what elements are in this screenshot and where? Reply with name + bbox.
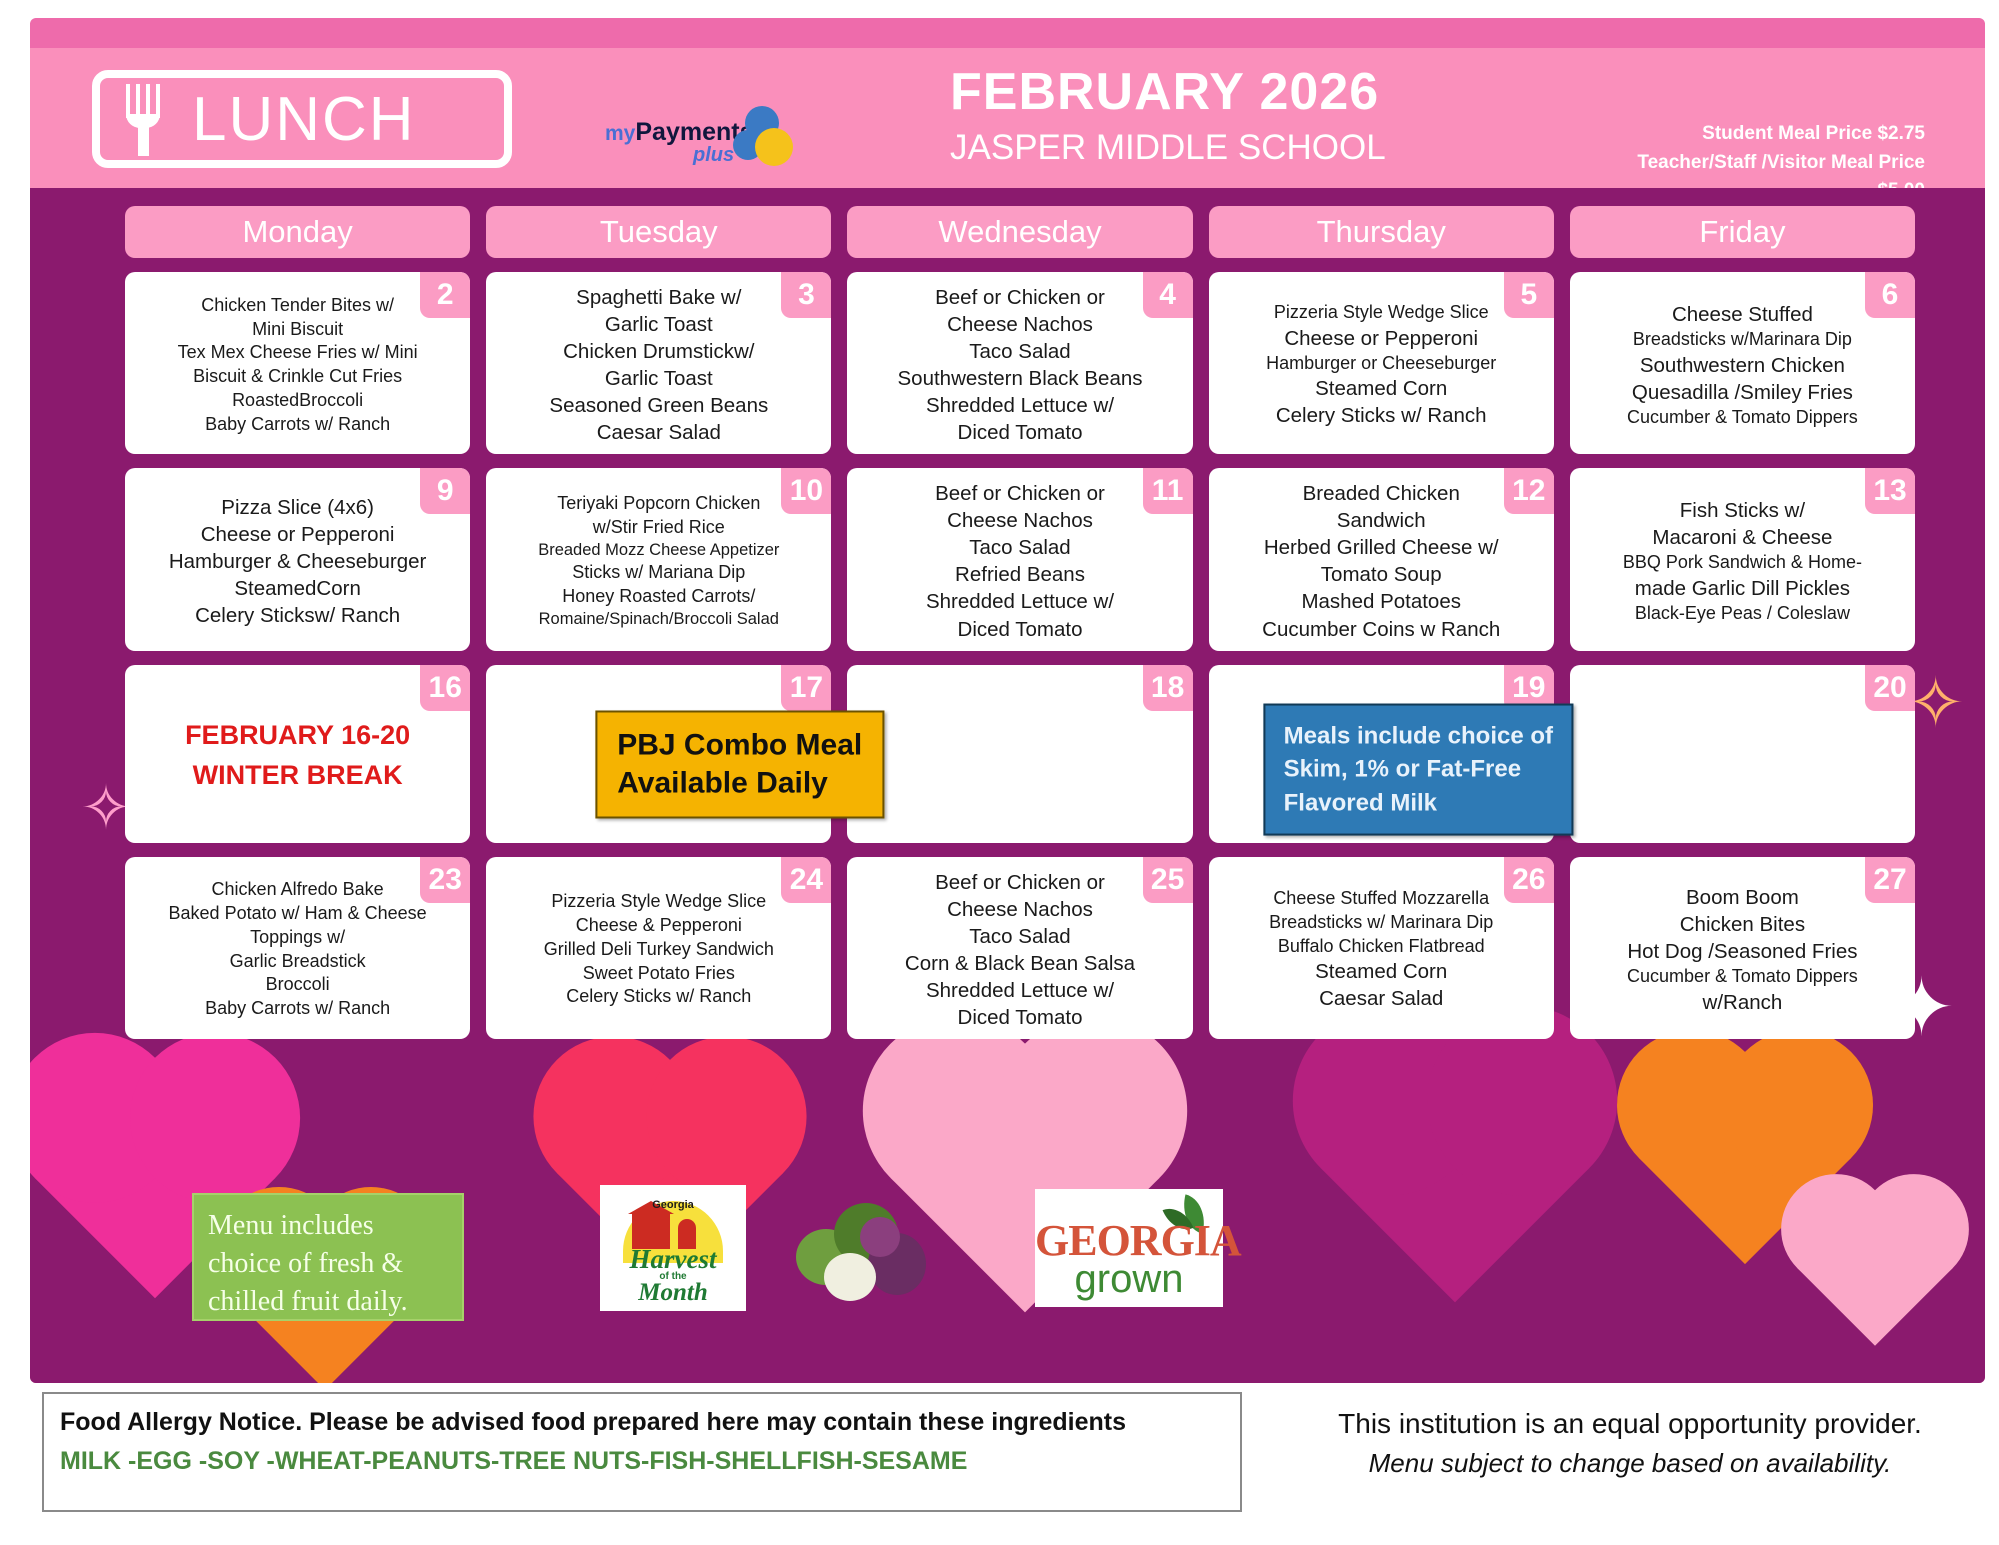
allergen-list: MILK -EGG -SOY -WHEAT-PEANUTS-TREE NUTS-… bbox=[60, 1447, 1224, 1476]
date-badge: 23 bbox=[420, 857, 470, 903]
date-badge: 16 bbox=[420, 665, 470, 711]
georgia-grown-bottom-text: grown bbox=[1035, 1257, 1223, 1302]
date-badge: 3 bbox=[781, 272, 831, 318]
georgia-harvest-of-the-month-logo: Georgia Harvest of the Month bbox=[600, 1185, 746, 1311]
day-cell-11[interactable]: 11Beef or Chicken orCheese NachosTaco Sa… bbox=[847, 468, 1192, 650]
menu-item: BBQ Pork Sandwich & Home- bbox=[1576, 551, 1909, 575]
date-badge: 20 bbox=[1865, 665, 1915, 711]
date-badge: 18 bbox=[1143, 665, 1193, 711]
equal-opportunity-text: This institution is an equal opportunity… bbox=[1290, 1408, 1970, 1440]
calendar-weeks: 2Chicken Tender Bites w/Mini BiscuitTex … bbox=[125, 272, 1915, 1053]
menu-item: Taco Salad bbox=[853, 534, 1186, 561]
day-cell-20[interactable]: 20 bbox=[1570, 665, 1915, 843]
calendar-week-row: 2Chicken Tender Bites w/Mini BiscuitTex … bbox=[125, 272, 1915, 454]
lunch-logo: LUNCH bbox=[92, 70, 512, 168]
allergy-notice-title: Food Allergy Notice. Please be advised f… bbox=[60, 1408, 1224, 1437]
menu-item: Chicken Tender Bites w/ bbox=[131, 294, 464, 318]
day-cell-16[interactable]: 16FEBRUARY 16-20WINTER BREAK bbox=[125, 665, 470, 843]
menu-item: Cheese Nachos bbox=[853, 311, 1186, 338]
menu-item: Grilled Deli Turkey Sandwich bbox=[492, 938, 825, 962]
menu-item: Herbed Grilled Cheese w/ bbox=[1215, 534, 1548, 561]
menu-item: Beef or Chicken or bbox=[853, 284, 1186, 311]
menu-item: Caesar Salad bbox=[492, 419, 825, 446]
menu-item: Celery Sticksw/ Ranch bbox=[131, 602, 464, 629]
day-cell-6[interactable]: 6Cheese StuffedBreadsticks w/Marinara Di… bbox=[1570, 272, 1915, 454]
menu-item: Diced Tomato bbox=[853, 616, 1186, 643]
menu-subject-to-change-text: Menu subject to change based on availabi… bbox=[1290, 1448, 1970, 1479]
callout-line: PBJ Combo Meal bbox=[617, 726, 862, 764]
harvest-word-text: Harvest bbox=[600, 1247, 746, 1273]
menu-item: Biscuit & Crinkle Cut Fries bbox=[131, 365, 464, 389]
menu-item: Hamburger or Cheeseburger bbox=[1215, 352, 1548, 376]
menu-item: Refried Beans bbox=[853, 561, 1186, 588]
day-cell-10[interactable]: 10Teriyaki Popcorn Chickenw/Stir Fried R… bbox=[486, 468, 831, 650]
menu-item: Cucumber & Tomato Dippers bbox=[1576, 406, 1909, 430]
menu-item-list: Cheese StuffedBreadsticks w/Marinara Dip… bbox=[1576, 301, 1909, 430]
winter-break-line: WINTER BREAK bbox=[185, 756, 410, 795]
menu-item: Honey Roasted Carrots/ bbox=[492, 585, 825, 609]
menu-item-list: Beef or Chicken orCheese NachosTaco Sala… bbox=[853, 284, 1186, 446]
menu-item: Quesadilla /Smiley Fries bbox=[1576, 379, 1909, 406]
winter-break-line: FEBRUARY 16-20 bbox=[185, 716, 410, 755]
menu-item: Buffalo Chicken Flatbread bbox=[1215, 935, 1548, 959]
dow-tuesday: Tuesday bbox=[486, 206, 831, 258]
date-badge: 27 bbox=[1865, 857, 1915, 903]
callout-line: Available Daily bbox=[617, 764, 862, 802]
mypaymentsplus-wordmark: myPayments bbox=[605, 118, 753, 147]
menu-item: Shredded Lettuce w/ bbox=[853, 977, 1186, 1004]
menu-item: Baby Carrots w/ Ranch bbox=[131, 413, 464, 437]
menu-item: Hot Dog /Seasoned Fries bbox=[1576, 938, 1909, 965]
staff-meal-price-label: Teacher/Staff /Visitor Meal Price bbox=[1637, 149, 1925, 178]
day-cell-13[interactable]: 13Fish Sticks w/Macaroni & CheeseBBQ Por… bbox=[1570, 468, 1915, 650]
menu-item: Chicken Alfredo Bake bbox=[131, 878, 464, 902]
dow-wednesday: Wednesday bbox=[847, 206, 1192, 258]
dow-monday: Monday bbox=[125, 206, 470, 258]
menu-item: Cheese Nachos bbox=[853, 507, 1186, 534]
menu-item: Sticks w/ Mariana Dip bbox=[492, 561, 825, 585]
calendar-week-row: 16FEBRUARY 16-20WINTER BREAK17PBJ Combo … bbox=[125, 665, 1915, 843]
menu-item-list: Teriyaki Popcorn Chickenw/Stir Fried Ric… bbox=[492, 492, 825, 631]
menu-item: Toppings w/ bbox=[131, 926, 464, 950]
equal-opportunity-notice: This institution is an equal opportunity… bbox=[1290, 1408, 1970, 1479]
menu-item-list: Beef or Chicken orCheese NachosTaco Sala… bbox=[853, 869, 1186, 1031]
menu-item-list: Chicken Tender Bites w/Mini BiscuitTex M… bbox=[131, 294, 464, 437]
menu-item: Tomato Soup bbox=[1215, 561, 1548, 588]
callout-line: Skim, 1% or Fat-Free bbox=[1284, 753, 1553, 787]
menu-item: w/Stir Fried Rice bbox=[492, 516, 825, 540]
menu-item-list: Pizza Slice (4x6)Cheese or PepperoniHamb… bbox=[131, 494, 464, 629]
menu-item: Beef or Chicken or bbox=[853, 480, 1186, 507]
day-cell-3[interactable]: 3Spaghetti Bake w/Garlic ToastChicken Dr… bbox=[486, 272, 831, 454]
menu-item: Baked Potato w/ Ham & Cheese bbox=[131, 902, 464, 926]
header-title-group: FEBRUARY 2026 JASPER MIDDLE SCHOOL bbox=[950, 62, 1386, 168]
day-cell-23[interactable]: 23Chicken Alfredo BakeBaked Potato w/ Ha… bbox=[125, 857, 470, 1039]
menu-item: SteamedCorn bbox=[131, 575, 464, 602]
menu-item: Teriyaki Popcorn Chicken bbox=[492, 492, 825, 516]
menu-item-list: Chicken Alfredo BakeBaked Potato w/ Ham … bbox=[131, 878, 464, 1021]
menu-item: Fish Sticks w/ bbox=[1576, 497, 1909, 524]
date-badge: 24 bbox=[781, 857, 831, 903]
menu-item: Caesar Salad bbox=[1215, 985, 1548, 1012]
menu-item: Black-Eye Peas / Coleslaw bbox=[1576, 602, 1909, 626]
menu-item: Mini Biscuit bbox=[131, 318, 464, 342]
fresh-fruit-note: Menu includes choice of fresh & chilled … bbox=[192, 1193, 464, 1321]
menu-item: Steamed Corn bbox=[1215, 958, 1548, 985]
menu-item: Sandwich bbox=[1215, 507, 1548, 534]
menu-item: Breadsticks w/ Marinara Dip bbox=[1215, 911, 1548, 935]
menu-item: Romaine/Spinach/Broccoli Salad bbox=[492, 609, 825, 631]
date-badge: 17 bbox=[781, 665, 831, 711]
date-badge: 10 bbox=[781, 468, 831, 514]
food-allergy-notice: Food Allergy Notice. Please be advised f… bbox=[42, 1392, 1242, 1512]
day-cell-12[interactable]: 12Breaded ChickenSandwichHerbed Grilled … bbox=[1209, 468, 1554, 650]
day-cell-27[interactable]: 27Boom BoomChicken BitesHot Dog /Seasone… bbox=[1570, 857, 1915, 1039]
menu-item: Cheese or Pepperoni bbox=[131, 521, 464, 548]
menu-item: Breadsticks w/Marinara Dip bbox=[1576, 328, 1909, 352]
menu-item: Tex Mex Cheese Fries w/ Mini bbox=[131, 341, 464, 365]
menu-item: Cheese Stuffed Mozzarella bbox=[1215, 887, 1548, 911]
day-cell-18[interactable]: 18 bbox=[847, 665, 1192, 843]
milk-choice-callout: Meals include choice ofSkim, 1% or Fat-F… bbox=[1264, 703, 1573, 836]
menu-item: Cheese & Pepperoni bbox=[492, 914, 825, 938]
menu-item: Pizza Slice (4x6) bbox=[131, 494, 464, 521]
menu-item-list: Pizzeria Style Wedge SliceCheese or Pepp… bbox=[1215, 301, 1548, 430]
menu-item: Seasoned Green Beans bbox=[492, 392, 825, 419]
menu-item: Corn & Black Bean Salsa bbox=[853, 950, 1186, 977]
day-cell-9[interactable]: 9Pizza Slice (4x6)Cheese or PepperoniHam… bbox=[125, 468, 470, 650]
menu-item: Boom Boom bbox=[1576, 884, 1909, 911]
day-cell-2[interactable]: 2Chicken Tender Bites w/Mini BiscuitTex … bbox=[125, 272, 470, 454]
menu-item-list: Spaghetti Bake w/Garlic ToastChicken Dru… bbox=[492, 284, 825, 446]
date-badge: 9 bbox=[420, 468, 470, 514]
menu-item: Cheese or Pepperoni bbox=[1215, 325, 1548, 352]
menu-item: Baby Carrots w/ Ranch bbox=[131, 997, 464, 1021]
calendar-week-row: 9Pizza Slice (4x6)Cheese or PepperoniHam… bbox=[125, 468, 1915, 650]
menu-item: w/Ranch bbox=[1576, 989, 1909, 1016]
date-badge: 2 bbox=[420, 272, 470, 318]
menu-item: Cucumber Coins w Ranch bbox=[1215, 616, 1548, 643]
menu-item: RoastedBroccoli bbox=[131, 389, 464, 413]
menu-item: Southwestern Black Beans bbox=[853, 365, 1186, 392]
mpp-plus-text: plus bbox=[693, 144, 734, 167]
menu-item-list: Cheese Stuffed MozzarellaBreadsticks w/ … bbox=[1215, 887, 1548, 1012]
menu-item: Beef or Chicken or bbox=[853, 869, 1186, 896]
menu-item: Steamed Corn bbox=[1215, 375, 1548, 402]
date-badge: 25 bbox=[1143, 857, 1193, 903]
menu-item: Spaghetti Bake w/ bbox=[492, 284, 825, 311]
day-cell-4[interactable]: 4Beef or Chicken orCheese NachosTaco Sal… bbox=[847, 272, 1192, 454]
date-badge: 26 bbox=[1504, 857, 1554, 903]
menu-item: Garlic Toast bbox=[492, 365, 825, 392]
day-cell-25[interactable]: 25Beef or Chicken orCheese NachosTaco Sa… bbox=[847, 857, 1192, 1039]
dow-thursday: Thursday bbox=[1209, 206, 1554, 258]
menu-item: made Garlic Dill Pickles bbox=[1576, 575, 1909, 602]
date-badge: 4 bbox=[1143, 272, 1193, 318]
menu-item: Broccoli bbox=[131, 973, 464, 997]
winter-break-notice: FEBRUARY 16-20WINTER BREAK bbox=[185, 716, 410, 794]
poster-header: LUNCH myPayments plus FEBRUARY 2026 JASP… bbox=[30, 48, 1985, 188]
harvest-georgia-text: Georgia bbox=[652, 1199, 694, 1211]
menu-item: Celery Sticks w/ Ranch bbox=[492, 985, 825, 1009]
callout-line: Meals include choice of bbox=[1284, 719, 1553, 753]
menu-item: Sweet Potato Fries bbox=[492, 962, 825, 986]
fork-icon bbox=[112, 80, 178, 158]
day-cell-17[interactable]: 17PBJ Combo MealAvailable Daily bbox=[486, 665, 831, 843]
mypaymentsplus-logo: myPayments plus bbox=[605, 106, 790, 176]
menu-item-list: Breaded ChickenSandwichHerbed Grilled Ch… bbox=[1215, 480, 1548, 642]
menu-item: Shredded Lettuce w/ bbox=[853, 392, 1186, 419]
menu-item-list: Boom BoomChicken BitesHot Dog /Seasoned … bbox=[1576, 884, 1909, 1016]
menu-item: Macaroni & Cheese bbox=[1576, 524, 1909, 551]
menu-item: Taco Salad bbox=[853, 923, 1186, 950]
menu-item: Chicken Drumstickw/ bbox=[492, 338, 825, 365]
menu-item: Breaded Chicken bbox=[1215, 480, 1548, 507]
menu-item: Cucumber & Tomato Dippers bbox=[1576, 965, 1909, 989]
menu-item: Garlic Breadstick bbox=[131, 950, 464, 974]
date-badge: 12 bbox=[1504, 468, 1554, 514]
mpp-circle-yellow bbox=[755, 128, 793, 166]
menu-item: Taco Salad bbox=[853, 338, 1186, 365]
menu-item: Chicken Bites bbox=[1576, 911, 1909, 938]
georgia-grown-logo: GEORGIA grown bbox=[1035, 1189, 1223, 1307]
date-badge: 11 bbox=[1143, 468, 1193, 514]
menu-item: Celery Sticks w/ Ranch bbox=[1215, 402, 1548, 429]
day-cell-26[interactable]: 26Cheese Stuffed MozzarellaBreadsticks w… bbox=[1209, 857, 1554, 1039]
student-meal-price: Student Meal Price $2.75 bbox=[1637, 120, 1925, 149]
menu-item: Diced Tomato bbox=[853, 1004, 1186, 1031]
menu-item: Diced Tomato bbox=[853, 419, 1186, 446]
menu-item-list: Beef or Chicken orCheese NachosTaco Sala… bbox=[853, 480, 1186, 642]
pbj-combo-callout: PBJ Combo MealAvailable Daily bbox=[595, 710, 884, 819]
harvest-month-text: Month bbox=[600, 1279, 746, 1307]
date-badge: 5 bbox=[1504, 272, 1554, 318]
menu-item: Pizzeria Style Wedge Slice bbox=[1215, 301, 1548, 325]
menu-item-list: Pizzeria Style Wedge SliceCheese & Peppe… bbox=[492, 890, 825, 1009]
menu-item: Cheese Nachos bbox=[853, 896, 1186, 923]
menu-item: Cheese Stuffed bbox=[1576, 301, 1909, 328]
menu-poster-frame: LUNCH myPayments plus FEBRUARY 2026 JASP… bbox=[30, 18, 1985, 1383]
menu-item: Southwestern Chicken bbox=[1576, 352, 1909, 379]
menu-item: Garlic Toast bbox=[492, 311, 825, 338]
decorative-sparkle-right-top: ✧ bbox=[1906, 668, 1965, 738]
calendar-week-row: 23Chicken Alfredo BakeBaked Potato w/ Ha… bbox=[125, 857, 1915, 1039]
date-badge: 13 bbox=[1865, 468, 1915, 514]
callout-line: Flavored Milk bbox=[1284, 786, 1553, 820]
dow-friday: Friday bbox=[1570, 206, 1915, 258]
day-cell-24[interactable]: 24Pizzeria Style Wedge SliceCheese & Pep… bbox=[486, 857, 831, 1039]
lunch-logo-text: LUNCH bbox=[192, 84, 416, 155]
menu-item: Hamburger & Cheeseburger bbox=[131, 548, 464, 575]
calendar-body: ✧ ✦ ✧ Monday Tuesday Wednesday Thursday … bbox=[30, 188, 1985, 1383]
school-name: JASPER MIDDLE SCHOOL bbox=[950, 128, 1386, 168]
menu-item: Breaded Mozz Cheese Appetizer bbox=[492, 540, 825, 562]
menu-item-list: Fish Sticks w/Macaroni & CheeseBBQ Pork … bbox=[1576, 497, 1909, 626]
day-cell-5[interactable]: 5Pizzeria Style Wedge SliceCheese or Pep… bbox=[1209, 272, 1554, 454]
date-badge: 6 bbox=[1865, 272, 1915, 318]
day-cell-19[interactable]: 19Meals include choice ofSkim, 1% or Fat… bbox=[1209, 665, 1554, 843]
menu-item: Pizzeria Style Wedge Slice bbox=[492, 890, 825, 914]
menu-item: Shredded Lettuce w/ bbox=[853, 588, 1186, 615]
day-of-week-header-row: Monday Tuesday Wednesday Thursday Friday bbox=[125, 206, 1915, 258]
vegetables-photo bbox=[790, 1195, 930, 1313]
mpp-my-text: my bbox=[605, 122, 635, 145]
menu-item: Mashed Potatoes bbox=[1215, 588, 1548, 615]
footer-logo-strip: Menu includes choice of fresh & chilled … bbox=[30, 1183, 1985, 1383]
page-title: FEBRUARY 2026 bbox=[950, 62, 1386, 122]
